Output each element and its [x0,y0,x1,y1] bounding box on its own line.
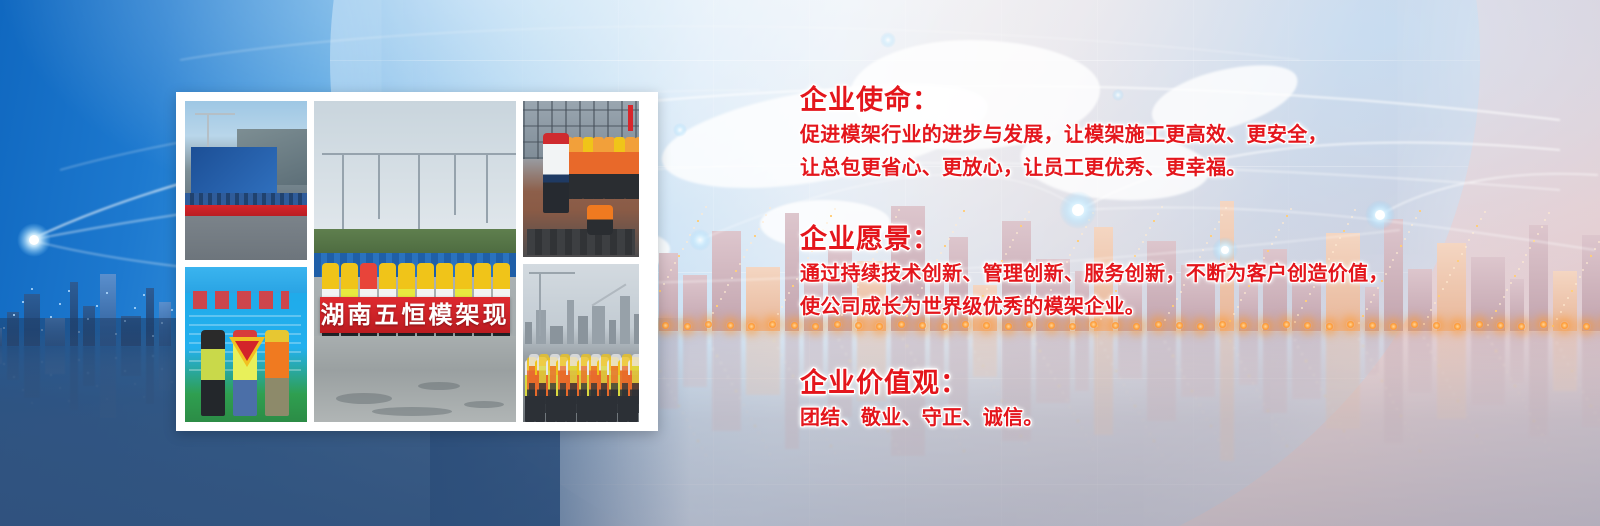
vision-block: 企业愿景： 通过持续技术创新、管理创新、服务创新，不断为客户创造价值， 使公司成… [800,223,1540,323]
backdrop-title [193,291,289,309]
mission-block: 企业使命： 促进模架行业的进步与发展，让模架施工更高效、更安全， 让总包更省心、… [800,84,1540,184]
photo-site-group[interactable]: 湖南五恒模架现场 [314,101,516,422]
work-mat [527,229,635,255]
spacer [800,184,1540,223]
collage-column-right [523,101,639,422]
seated-worker-figure [587,205,613,235]
vision-line-2: 使公司成长为世界级优秀的模架企业。 [800,290,1540,323]
lead-worker-figure [543,133,569,213]
photo-site-training[interactable] [523,101,639,257]
ground-surface [185,216,307,260]
backdrop-header [185,267,307,293]
mission-line-2: 让总包更省心、更放心，让员工更优秀、更幸福。 [800,151,1540,184]
crane-icon [418,153,420,235]
site-signboard [191,147,277,193]
worker-figure [265,330,289,416]
crane-icon [378,153,380,219]
site-red-banner: 湖南五恒模架现场 [320,297,510,333]
culture-text-panel: 企业使命： 促进模架行业的进步与发展，让模架施工更高效、更安全， 让总包更省心、… [800,84,1540,434]
photo-safety-ceremony[interactable] [185,101,307,260]
values-block: 企业价值观： 团结、敬业、守正、诚信。 [800,367,1540,434]
vision-line-1: 通过持续技术创新、管理创新、服务创新，不断为客户创造价值， [800,257,1540,290]
puddle-shape [418,382,460,390]
values-line-1: 团结、敬业、守正、诚信。 [800,401,1540,434]
puddle-shape [464,401,504,408]
puddle-shape [336,393,392,404]
puddle-shape [372,407,452,416]
crane-icon [342,153,344,229]
spacer [800,323,1540,367]
collage-column-left [185,101,307,422]
collage-column-center: 湖南五恒模架现场 [314,101,516,422]
photo-morning-meeting[interactable] [185,267,307,422]
flag-icon [628,105,633,131]
photo-crowd-assembly[interactable] [523,264,639,422]
crane-icon [454,153,456,215]
vision-heading: 企业愿景： [800,223,1540,257]
mission-line-1: 促进模架行业的进步与发展，让模架施工更高效、更安全， [800,118,1540,151]
road-surface [314,336,516,422]
company-culture-banner: 湖南五恒模架现场 [0,0,1600,526]
worker-figure [201,330,225,416]
crowd-row [523,340,639,422]
photo-collage[interactable]: 湖南五恒模架现场 [176,92,658,431]
values-heading: 企业价值观： [800,367,1540,401]
mission-heading: 企业使命： [800,84,1540,118]
crane-icon [539,272,541,336]
pennant-inner-icon [235,341,259,361]
site-greenery [314,229,516,255]
crane-icon [486,153,488,223]
